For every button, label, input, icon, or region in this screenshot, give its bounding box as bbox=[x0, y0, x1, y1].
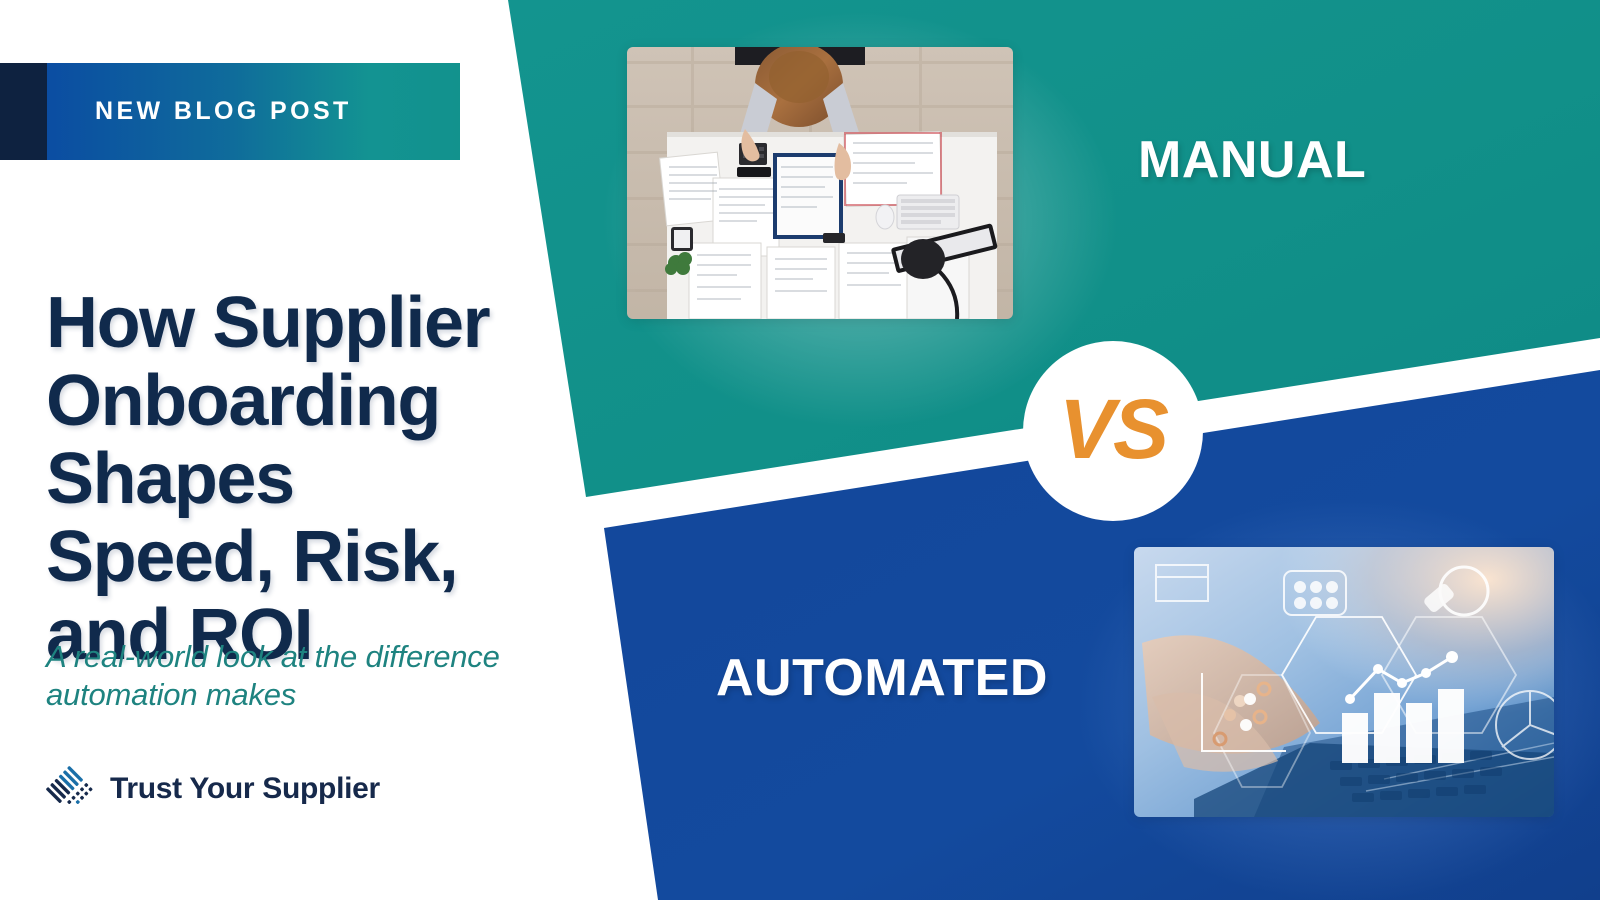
subtitle: A real-world look at the difference auto… bbox=[46, 638, 546, 714]
new-blog-post-badge: NEW BLOG POST bbox=[0, 63, 460, 160]
woven-diagonal-mesh-logo-icon bbox=[46, 765, 94, 813]
promo-graphic-canvas: VS MANUAL AUTOMATED NEW BLOG POST How Su… bbox=[0, 0, 1600, 900]
brand-name: Trust Your Supplier bbox=[110, 772, 380, 806]
brand-lockup: Trust Your Supplier bbox=[46, 765, 380, 813]
automated-label: AUTOMATED bbox=[716, 648, 1048, 708]
left-content-column: NEW BLOG POST How Supplier Onboarding Sh… bbox=[0, 0, 520, 900]
manual-paperwork-photo bbox=[627, 47, 1013, 319]
vs-label: VS bbox=[1059, 387, 1167, 471]
badge-label: NEW BLOG POST bbox=[47, 97, 352, 126]
badge-accent-block bbox=[0, 63, 47, 160]
automated-analytics-photo bbox=[1134, 547, 1554, 817]
badge-gradient-bar: NEW BLOG POST bbox=[47, 63, 460, 160]
vs-badge: VS bbox=[1023, 341, 1203, 521]
manual-label: MANUAL bbox=[1138, 130, 1366, 190]
page-title: How Supplier Onboarding Shapes Speed, Ri… bbox=[46, 284, 516, 674]
